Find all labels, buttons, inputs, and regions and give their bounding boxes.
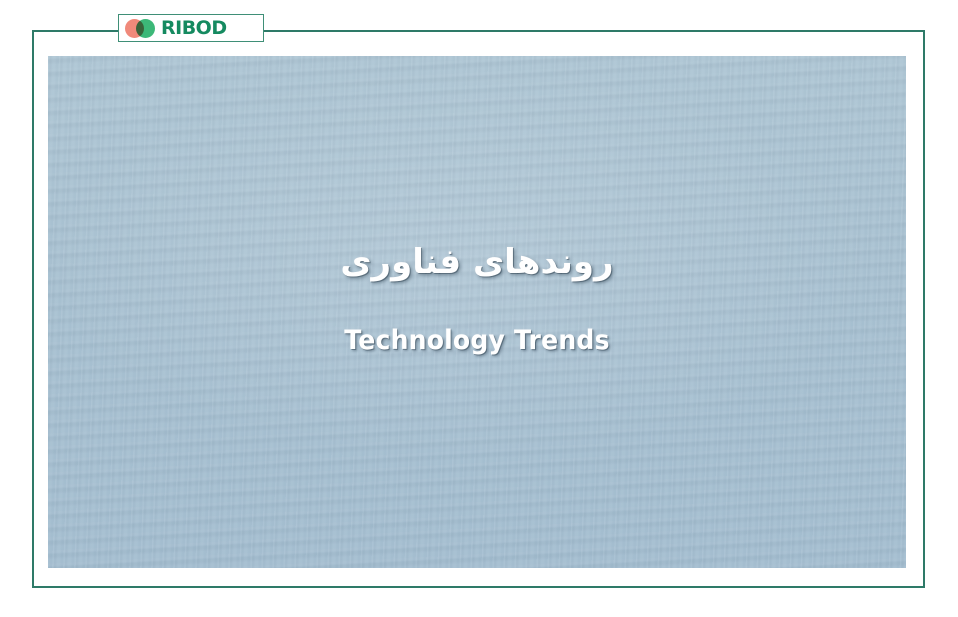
brand-wordmark: RIBOD [161, 19, 227, 38]
slide-text-block: روندهای فناوری Technology Trends [48, 241, 906, 358]
slide-subtitle-english: Technology Trends [78, 325, 876, 357]
brand-logo-badge[interactable]: RIBOD [118, 14, 264, 42]
slide-title-persian: روندهای فناوری [48, 241, 906, 284]
circle-green-shape [136, 19, 155, 38]
presentation-slide-image: روندهای فناوری Technology Trends [48, 56, 906, 568]
overlapping-circles-icon [125, 19, 159, 38]
